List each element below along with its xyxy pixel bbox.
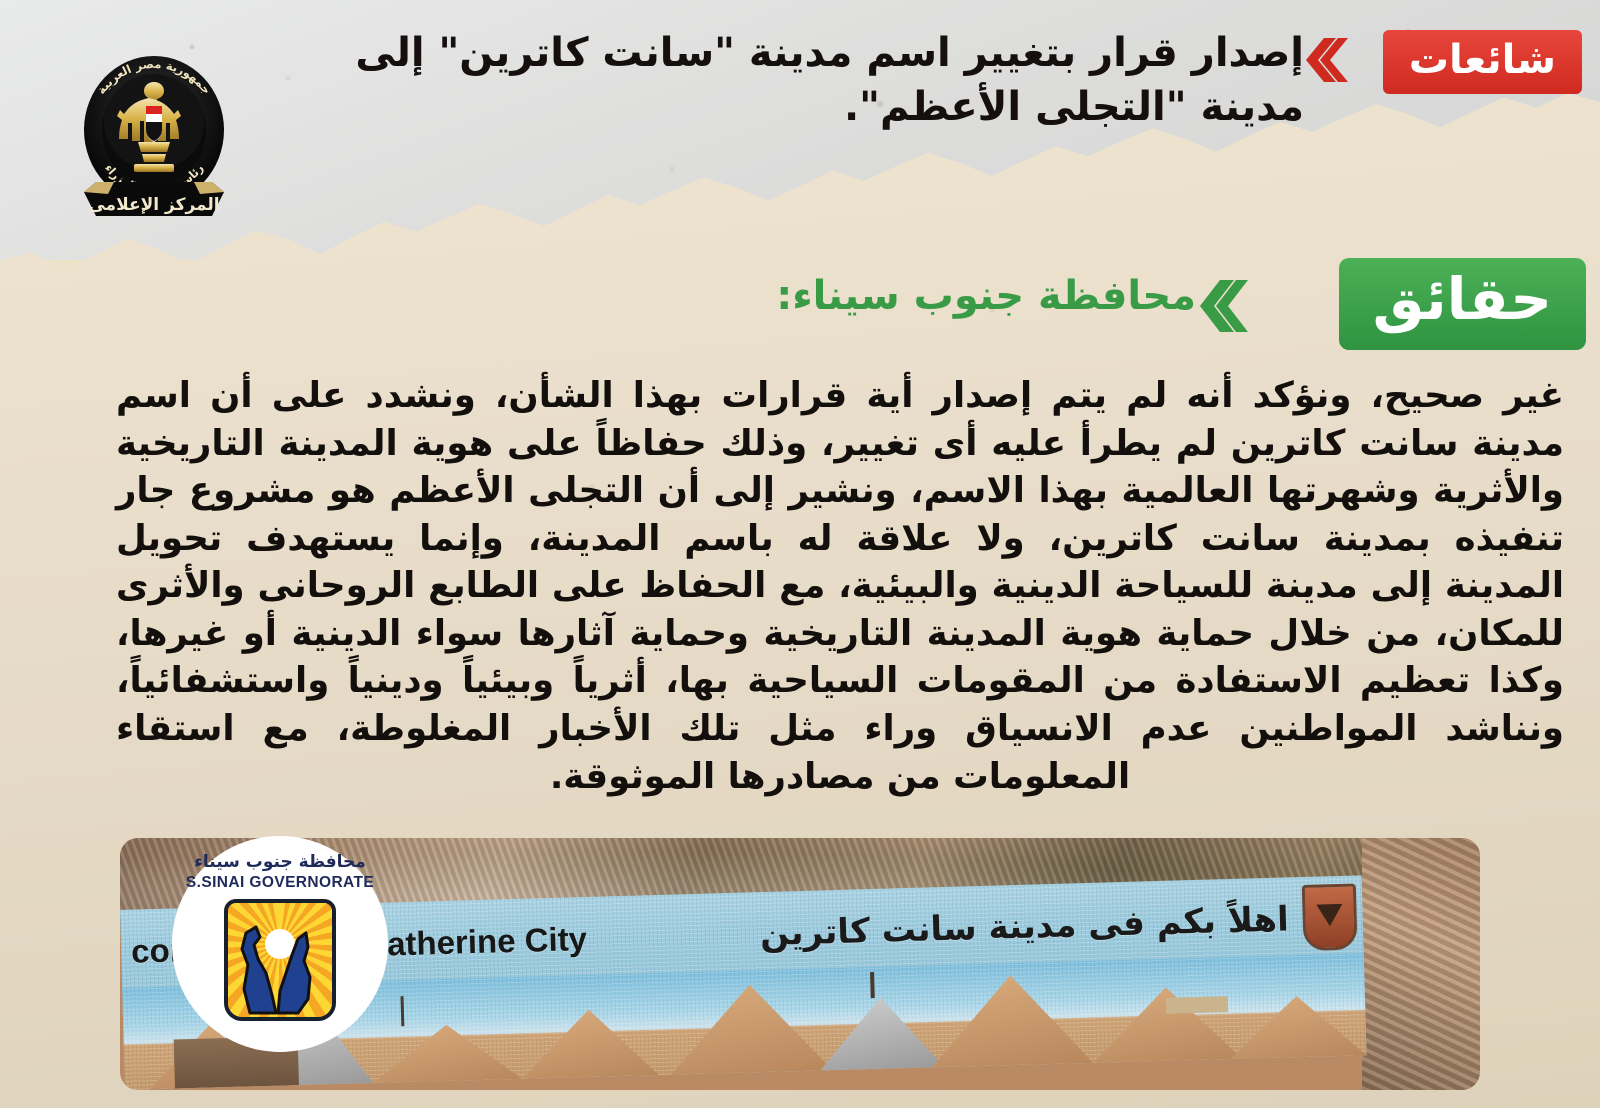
rock-right-edge xyxy=(1362,838,1480,1090)
mural-peak xyxy=(372,1023,523,1083)
rumor-badge: شائعات xyxy=(1383,30,1582,94)
south-sinai-governorate-logo: محافظة جنوب سيناء S.SINAI GOVERNORATE xyxy=(172,836,388,1052)
mural-peak xyxy=(520,1008,658,1079)
tower-battlement xyxy=(1166,996,1229,1014)
fact-source-label: محافظة جنوب سيناء: xyxy=(776,276,1196,316)
double-chevron-left-icon xyxy=(1302,36,1348,84)
page-title: إصدار قرار بتغيير اسم مدينة "سانت كاترين… xyxy=(244,26,1304,134)
gov-logo-arabic-text: محافظة جنوب سيناء xyxy=(194,854,366,871)
fact-body-text: غير صحيح، ونؤكد أنه لم يتم إصدار أية قرا… xyxy=(116,372,1564,800)
infographic-poster: جمهورية مصر العربية رئاسة مجلس الوزراء ا… xyxy=(0,0,1600,1108)
gov-logo-english-text: S.SINAI GOVERNORATE xyxy=(186,875,374,891)
egypt-cabinet-media-center-logo: جمهورية مصر العربية رئاسة مجلس الوزراء ا… xyxy=(68,42,240,232)
mural-peak xyxy=(669,982,833,1074)
minaret-icon xyxy=(870,972,875,998)
facts-badge: حقائق xyxy=(1339,258,1586,350)
double-chevron-left-icon xyxy=(1196,278,1248,334)
minaret-icon xyxy=(401,996,405,1026)
mural-peak xyxy=(818,996,944,1071)
svg-text:المركز الإعلامى: المركز الإعلامى xyxy=(88,195,219,215)
welcome-sign-arabic-text: اهلاً بكم فى مدينة سانت كاترين xyxy=(760,899,1290,954)
mural-peak xyxy=(1228,994,1366,1059)
mural-peak xyxy=(930,973,1094,1067)
sunburst-sinai-shield-icon xyxy=(224,899,336,1021)
heraldic-shield-icon xyxy=(1302,883,1358,950)
